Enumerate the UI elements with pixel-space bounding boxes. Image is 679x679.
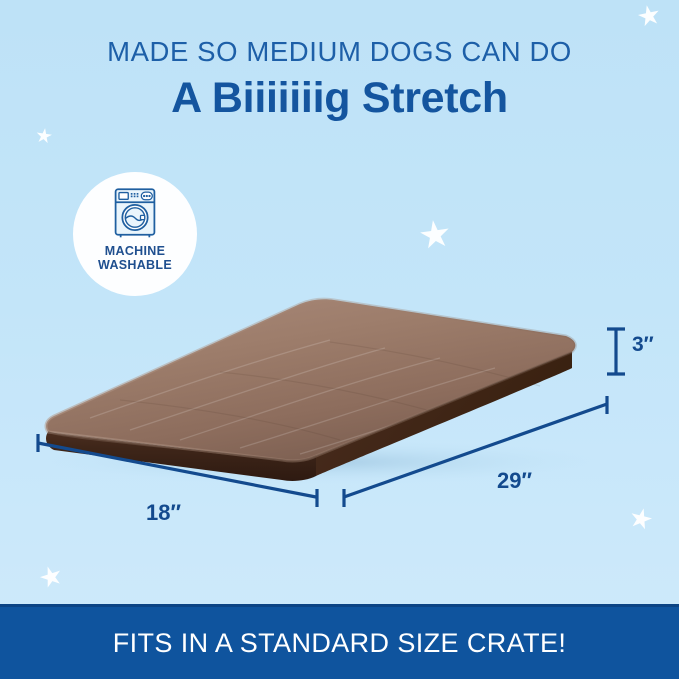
badge-label-line2: WASHABLE [98,258,172,272]
machine-washable-badge: MACHINE WASHABLE [73,172,197,296]
dimension-label-height: 3″ [632,333,654,357]
bottom-banner: FITS IN A STANDARD SIZE CRATE! [0,604,679,679]
badge-label: MACHINE WASHABLE [98,244,172,273]
headline-subtitle: MADE SO MEDIUM DOGS CAN DO [0,38,679,66]
product-infographic: MADE SO MEDIUM DOGS CAN DO A Biiiiiiig S… [0,0,679,679]
washing-machine-icon [108,185,162,239]
dimension-label-width: 18″ [146,500,181,526]
dimension-label-length: 29″ [497,468,532,494]
headline-block: MADE SO MEDIUM DOGS CAN DO A Biiiiiiig S… [0,38,679,120]
banner-text: FITS IN A STANDARD SIZE CRATE! [113,628,567,659]
badge-label-line1: MACHINE [98,244,172,258]
product-image [0,280,679,500]
page-title: A Biiiiiiig Stretch [0,77,679,120]
